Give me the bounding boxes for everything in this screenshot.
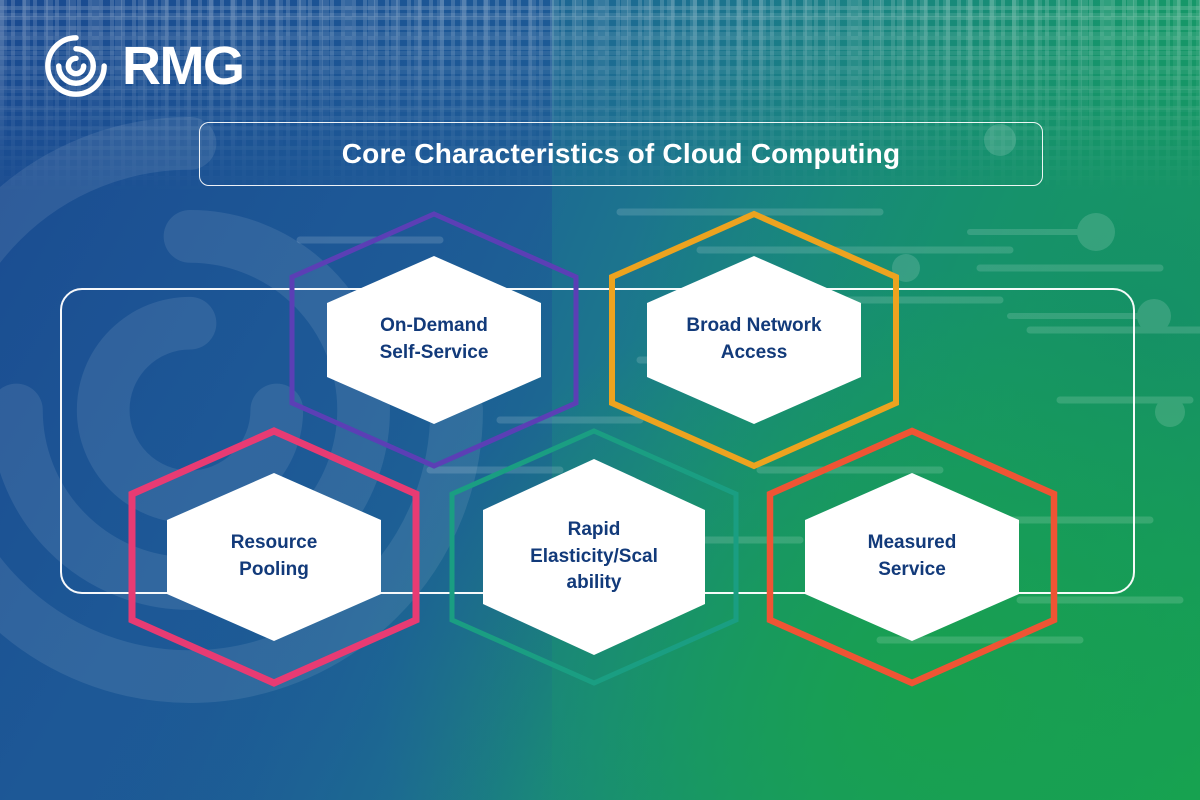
page-title-container: Core Characteristics of Cloud Computing: [199, 122, 1043, 186]
hex-fill: [766, 427, 1058, 687]
spiral-swirl-icon: [44, 34, 108, 98]
hex-fill: [448, 427, 740, 687]
hex-node-rapid-elasticity-scalability[interactable]: Rapid Elasticity/Scal ability: [448, 427, 740, 687]
hex-node-resource-pooling[interactable]: Resource Pooling: [128, 427, 420, 687]
hex-fill: [128, 427, 420, 687]
brand-wordmark: RMG: [122, 39, 243, 93]
hex-node-measured-service[interactable]: Measured Service: [766, 427, 1058, 687]
page-title: Core Characteristics of Cloud Computing: [342, 138, 901, 170]
brand-logo[interactable]: RMG: [44, 34, 243, 98]
infographic-canvas: RMG Core Characteristics of Cloud Comput…: [0, 0, 1200, 800]
